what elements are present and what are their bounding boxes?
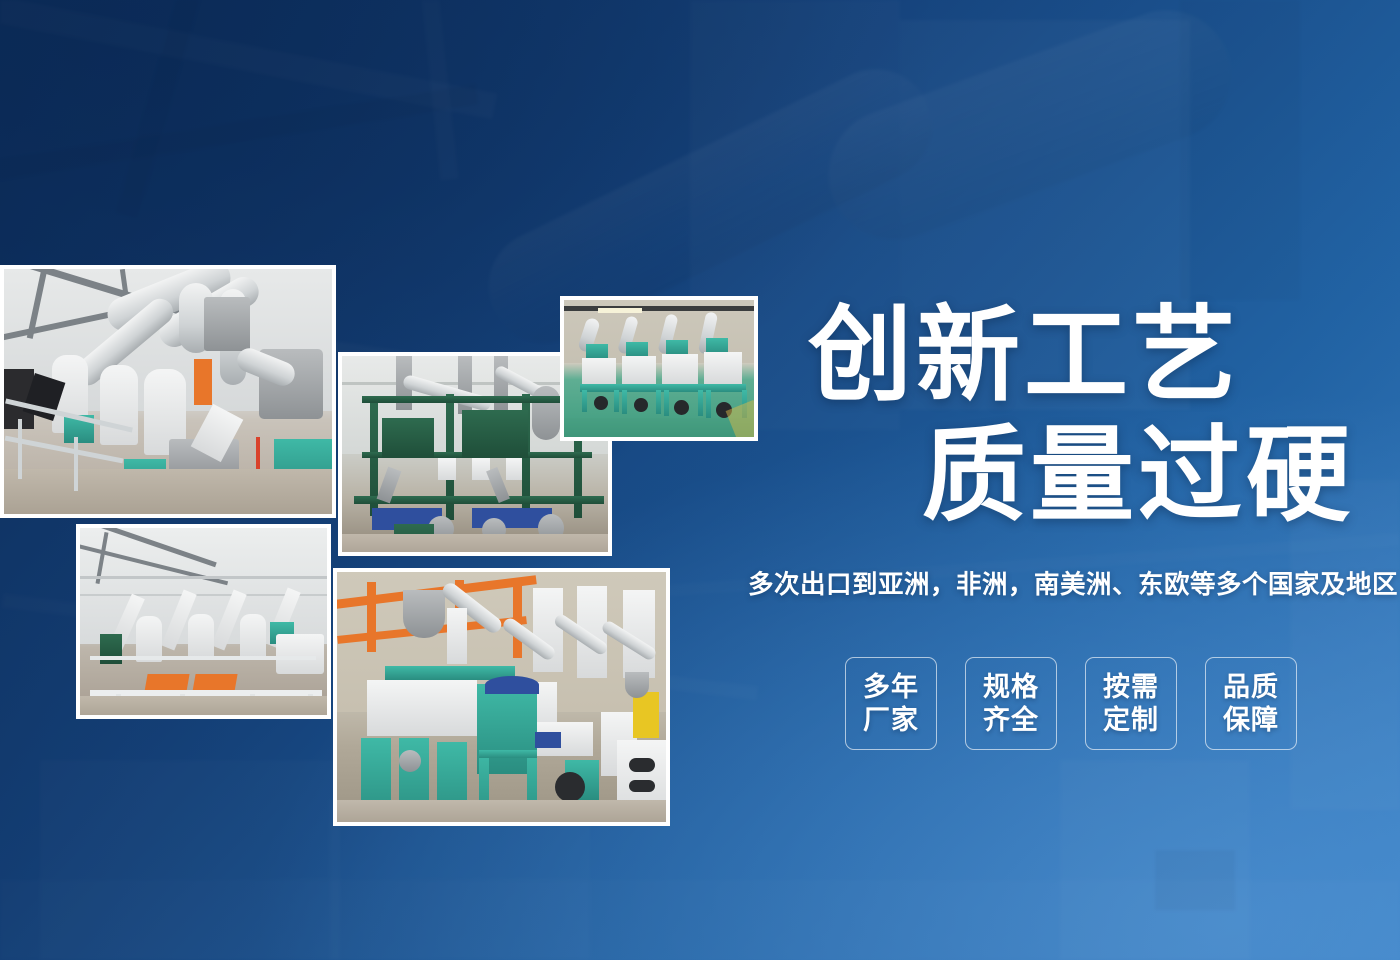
photo-grain-milling-line-with-ducting <box>0 265 336 518</box>
badge-line-1: 规格 <box>983 671 1039 704</box>
badge-line-2: 齐全 <box>983 704 1039 737</box>
badge-line-1: 多年 <box>863 671 919 704</box>
promo-banner: 创新工艺 质量过硬 多次出口到亚洲，非洲，南美洲、东欧等多个国家及地区 多年 厂… <box>0 0 1400 960</box>
subtitle: 多次出口到亚洲，非洲，南美洲、东欧等多个国家及地区 <box>748 568 1388 602</box>
badge-full-specifications[interactable]: 规格 齐全 <box>965 657 1057 750</box>
badge-line-2: 保障 <box>1223 704 1279 737</box>
badge-many-years-manufacturer[interactable]: 多年 厂家 <box>845 657 937 750</box>
photo-warehouse-flour-mill-platform <box>76 524 331 719</box>
badge-line-1: 品质 <box>1223 671 1279 704</box>
headline: 创新工艺 质量过硬 <box>748 296 1388 536</box>
photo-teal-white-milling-machines-workshop <box>333 568 670 826</box>
feature-badges: 多年 厂家 规格 齐全 按需 定制 品质 保障 <box>845 657 1297 750</box>
badge-line-1: 按需 <box>1103 671 1159 704</box>
badge-line-2: 厂家 <box>863 704 919 737</box>
badge-custom-on-demand[interactable]: 按需 定制 <box>1085 657 1177 750</box>
badge-line-2: 定制 <box>1103 704 1159 737</box>
headline-line-1: 创新工艺 <box>748 296 1388 416</box>
photo-teal-milling-machines-green-floor <box>560 296 758 441</box>
headline-line-2: 质量过硬 <box>748 416 1388 536</box>
badge-quality-guarantee[interactable]: 品质 保障 <box>1205 657 1297 750</box>
